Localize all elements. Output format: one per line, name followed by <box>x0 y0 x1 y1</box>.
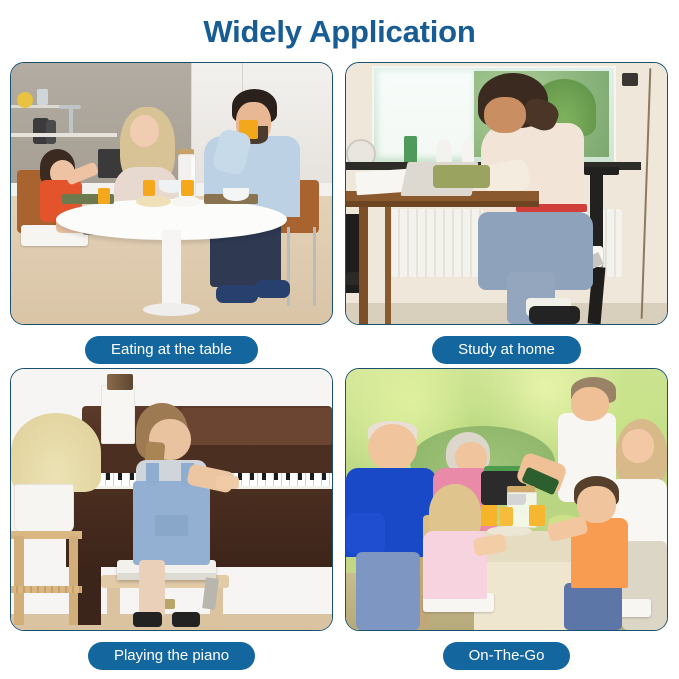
juice-glass <box>143 180 156 196</box>
photo-study-at-home <box>345 62 668 325</box>
grandfather-head <box>368 424 416 471</box>
pencil-vase <box>101 385 135 444</box>
grandfather-jeans <box>356 552 420 630</box>
child-shoe <box>529 306 580 324</box>
dried-wheat <box>11 413 101 491</box>
table-pedestal <box>162 230 181 308</box>
caption-pill-on-the-go: On-The-Go <box>443 642 571 670</box>
girl-leg <box>139 560 165 617</box>
sink-counter <box>11 133 117 137</box>
girl-shoe <box>172 612 201 628</box>
desk-leg <box>359 207 369 324</box>
mother-face <box>130 115 159 146</box>
juice-glass <box>529 505 545 526</box>
page-title: Widely Application <box>0 14 679 50</box>
caption-wrap-study-at-home: Study at home <box>345 336 668 364</box>
cushion-side <box>117 573 217 581</box>
grandfather-arm <box>346 513 385 555</box>
man-face <box>571 387 610 421</box>
application-card-on-the-go: On-The-Go <box>345 368 668 670</box>
plant-stand-leg <box>69 536 79 625</box>
cereal-bowl <box>223 188 249 201</box>
caption-wrap-on-the-go: On-The-Go <box>345 642 668 670</box>
girl-shoe <box>133 612 162 628</box>
photo-eating-at-the-table <box>10 62 333 325</box>
application-card-eating-at-the-table: Eating at the table <box>10 62 333 364</box>
pencils <box>107 374 133 390</box>
plant-stand-leg <box>14 536 24 625</box>
father-shoe <box>255 280 290 298</box>
caption-pill-eating-at-the-table: Eating at the table <box>85 336 258 364</box>
application-card-study-at-home: Study at home <box>345 62 668 364</box>
photo-playing-the-piano <box>10 368 333 631</box>
piano-lid <box>181 408 332 445</box>
girl-hand-on-keys <box>216 476 238 489</box>
woman-face <box>622 429 654 463</box>
chair-leg <box>313 227 316 305</box>
coffee-grinder <box>46 120 56 144</box>
child-face <box>484 97 526 134</box>
caption-wrap-eating-at-the-table: Eating at the table <box>10 336 333 364</box>
plant-stand-shelf <box>11 586 82 594</box>
overall-pocket <box>155 515 187 536</box>
juice-glass <box>500 507 513 525</box>
white-bottle <box>436 139 452 165</box>
wall-socket <box>622 73 638 86</box>
desk-leg <box>385 207 391 324</box>
photo-on-the-go <box>345 368 668 631</box>
white-bottle <box>462 139 475 165</box>
boy-jeans <box>564 583 622 630</box>
window-glare <box>378 71 474 157</box>
caption-pill-playing-the-piano: Playing the piano <box>88 642 255 670</box>
caption-pill-study-at-home: Study at home <box>432 336 581 364</box>
desk-edge <box>346 201 539 206</box>
caption-wrap-playing-the-piano: Playing the piano <box>10 642 333 670</box>
shelf-cup <box>37 89 48 105</box>
application-card-playing-the-piano: Playing the piano <box>10 368 333 670</box>
juice-glass <box>181 180 194 196</box>
pancake-plate <box>136 196 171 206</box>
stool-leg <box>107 588 120 630</box>
juice-glass <box>481 505 497 526</box>
piano-foot <box>75 567 101 624</box>
green-bottle <box>404 136 417 165</box>
overall-strap <box>146 463 159 486</box>
white-planter <box>14 484 74 533</box>
father-shoe <box>216 285 258 303</box>
side-plate <box>172 196 201 206</box>
juice-glass <box>98 188 111 204</box>
application-grid: Eating at the table <box>10 62 669 672</box>
pencil-case <box>433 165 491 188</box>
